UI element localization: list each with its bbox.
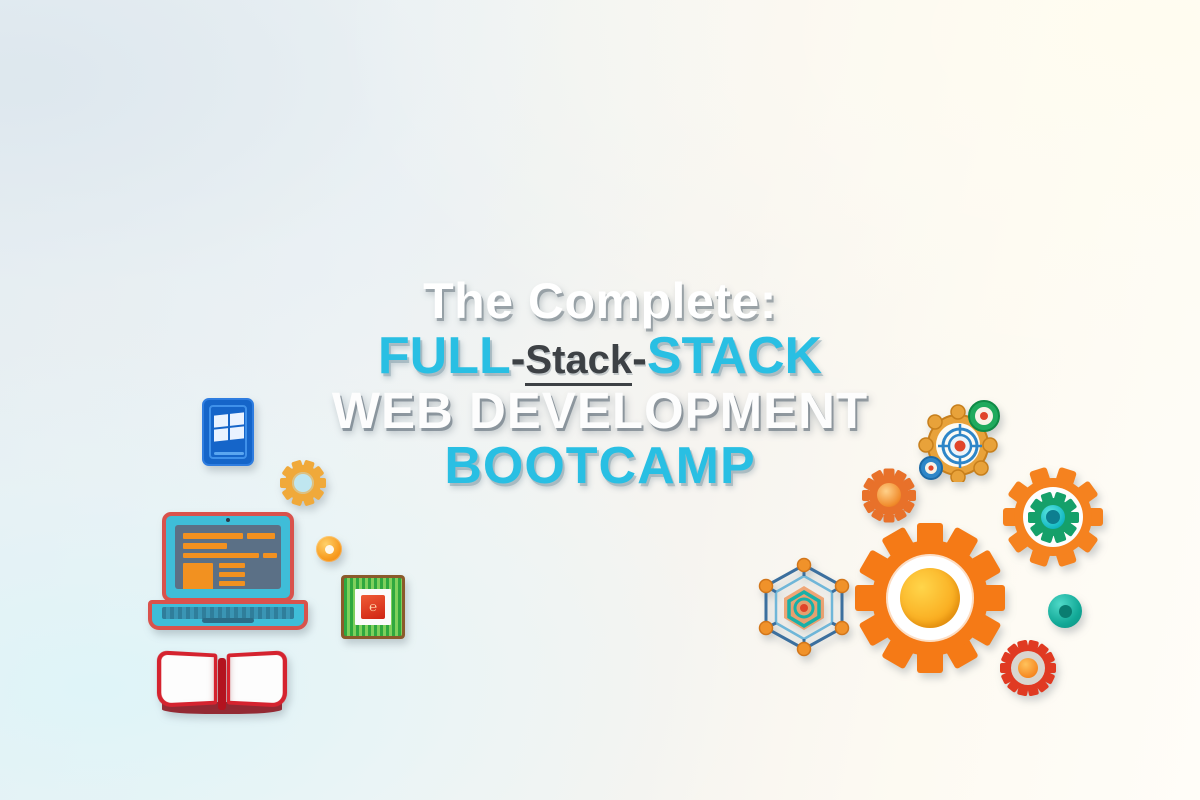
open-book-icon	[158, 652, 286, 714]
large-gear-icon	[856, 524, 1004, 672]
gear-cluster-icon	[918, 398, 1004, 482]
headline-dash-right: -	[632, 334, 647, 383]
gold-gear-icon	[280, 460, 326, 506]
book-spine	[218, 658, 226, 710]
double-gear-icon	[1004, 468, 1102, 566]
cluster-green-badge	[969, 401, 999, 431]
book-page-left	[157, 650, 217, 708]
windows-logo-icon	[202, 398, 254, 466]
headline-word-full: FULL	[378, 327, 511, 385]
chip-die-glyph: ℮	[361, 595, 385, 619]
hexagon-network-icon	[752, 556, 856, 658]
laptop-icon	[148, 512, 308, 640]
sun-gear-icon	[862, 468, 916, 522]
teal-ring-icon	[1048, 594, 1082, 628]
hexagon-network-svg	[752, 556, 856, 658]
windows-four-pane-glyph	[214, 412, 244, 441]
sun-gear-hub	[877, 483, 901, 507]
chip-die: ℮	[361, 595, 385, 619]
cluster-blue-badge	[920, 457, 942, 479]
headline-line-full-stack: FULL-Stack-STACK	[0, 330, 1200, 382]
headline-word-stack: STACK	[647, 327, 822, 385]
orange-ring-icon	[316, 536, 342, 562]
headline-word-stack-struck: Stack	[525, 338, 632, 386]
headline-line-the-complete: The Complete:	[0, 276, 1200, 326]
poster-canvas: The Complete: FULL-Stack-STACK WEB DEVEL…	[0, 0, 1200, 800]
windows-tile-bar	[214, 452, 244, 455]
red-gear-icon	[1000, 640, 1056, 696]
headline-block: The Complete: FULL-Stack-STACK WEB DEVEL…	[0, 276, 1200, 492]
windows-tile-body	[202, 398, 254, 466]
book-page-right	[227, 650, 287, 708]
laptop-trackpad	[202, 618, 254, 623]
laptop-base	[148, 600, 308, 630]
red-gear-hub	[1018, 658, 1038, 678]
laptop-camera	[226, 518, 230, 522]
microchip-icon: ℮	[341, 575, 405, 639]
gold-gear-hub	[292, 472, 314, 494]
gear-cluster-svg	[918, 398, 1004, 482]
laptop-lid	[162, 512, 294, 602]
headline-line-web-development: WEB DEVELOPMENT	[0, 385, 1200, 436]
laptop-screen	[175, 525, 281, 589]
large-gear-hub	[900, 568, 960, 628]
double-gear-core	[1046, 510, 1060, 524]
headline-dash-left: -	[511, 334, 526, 383]
